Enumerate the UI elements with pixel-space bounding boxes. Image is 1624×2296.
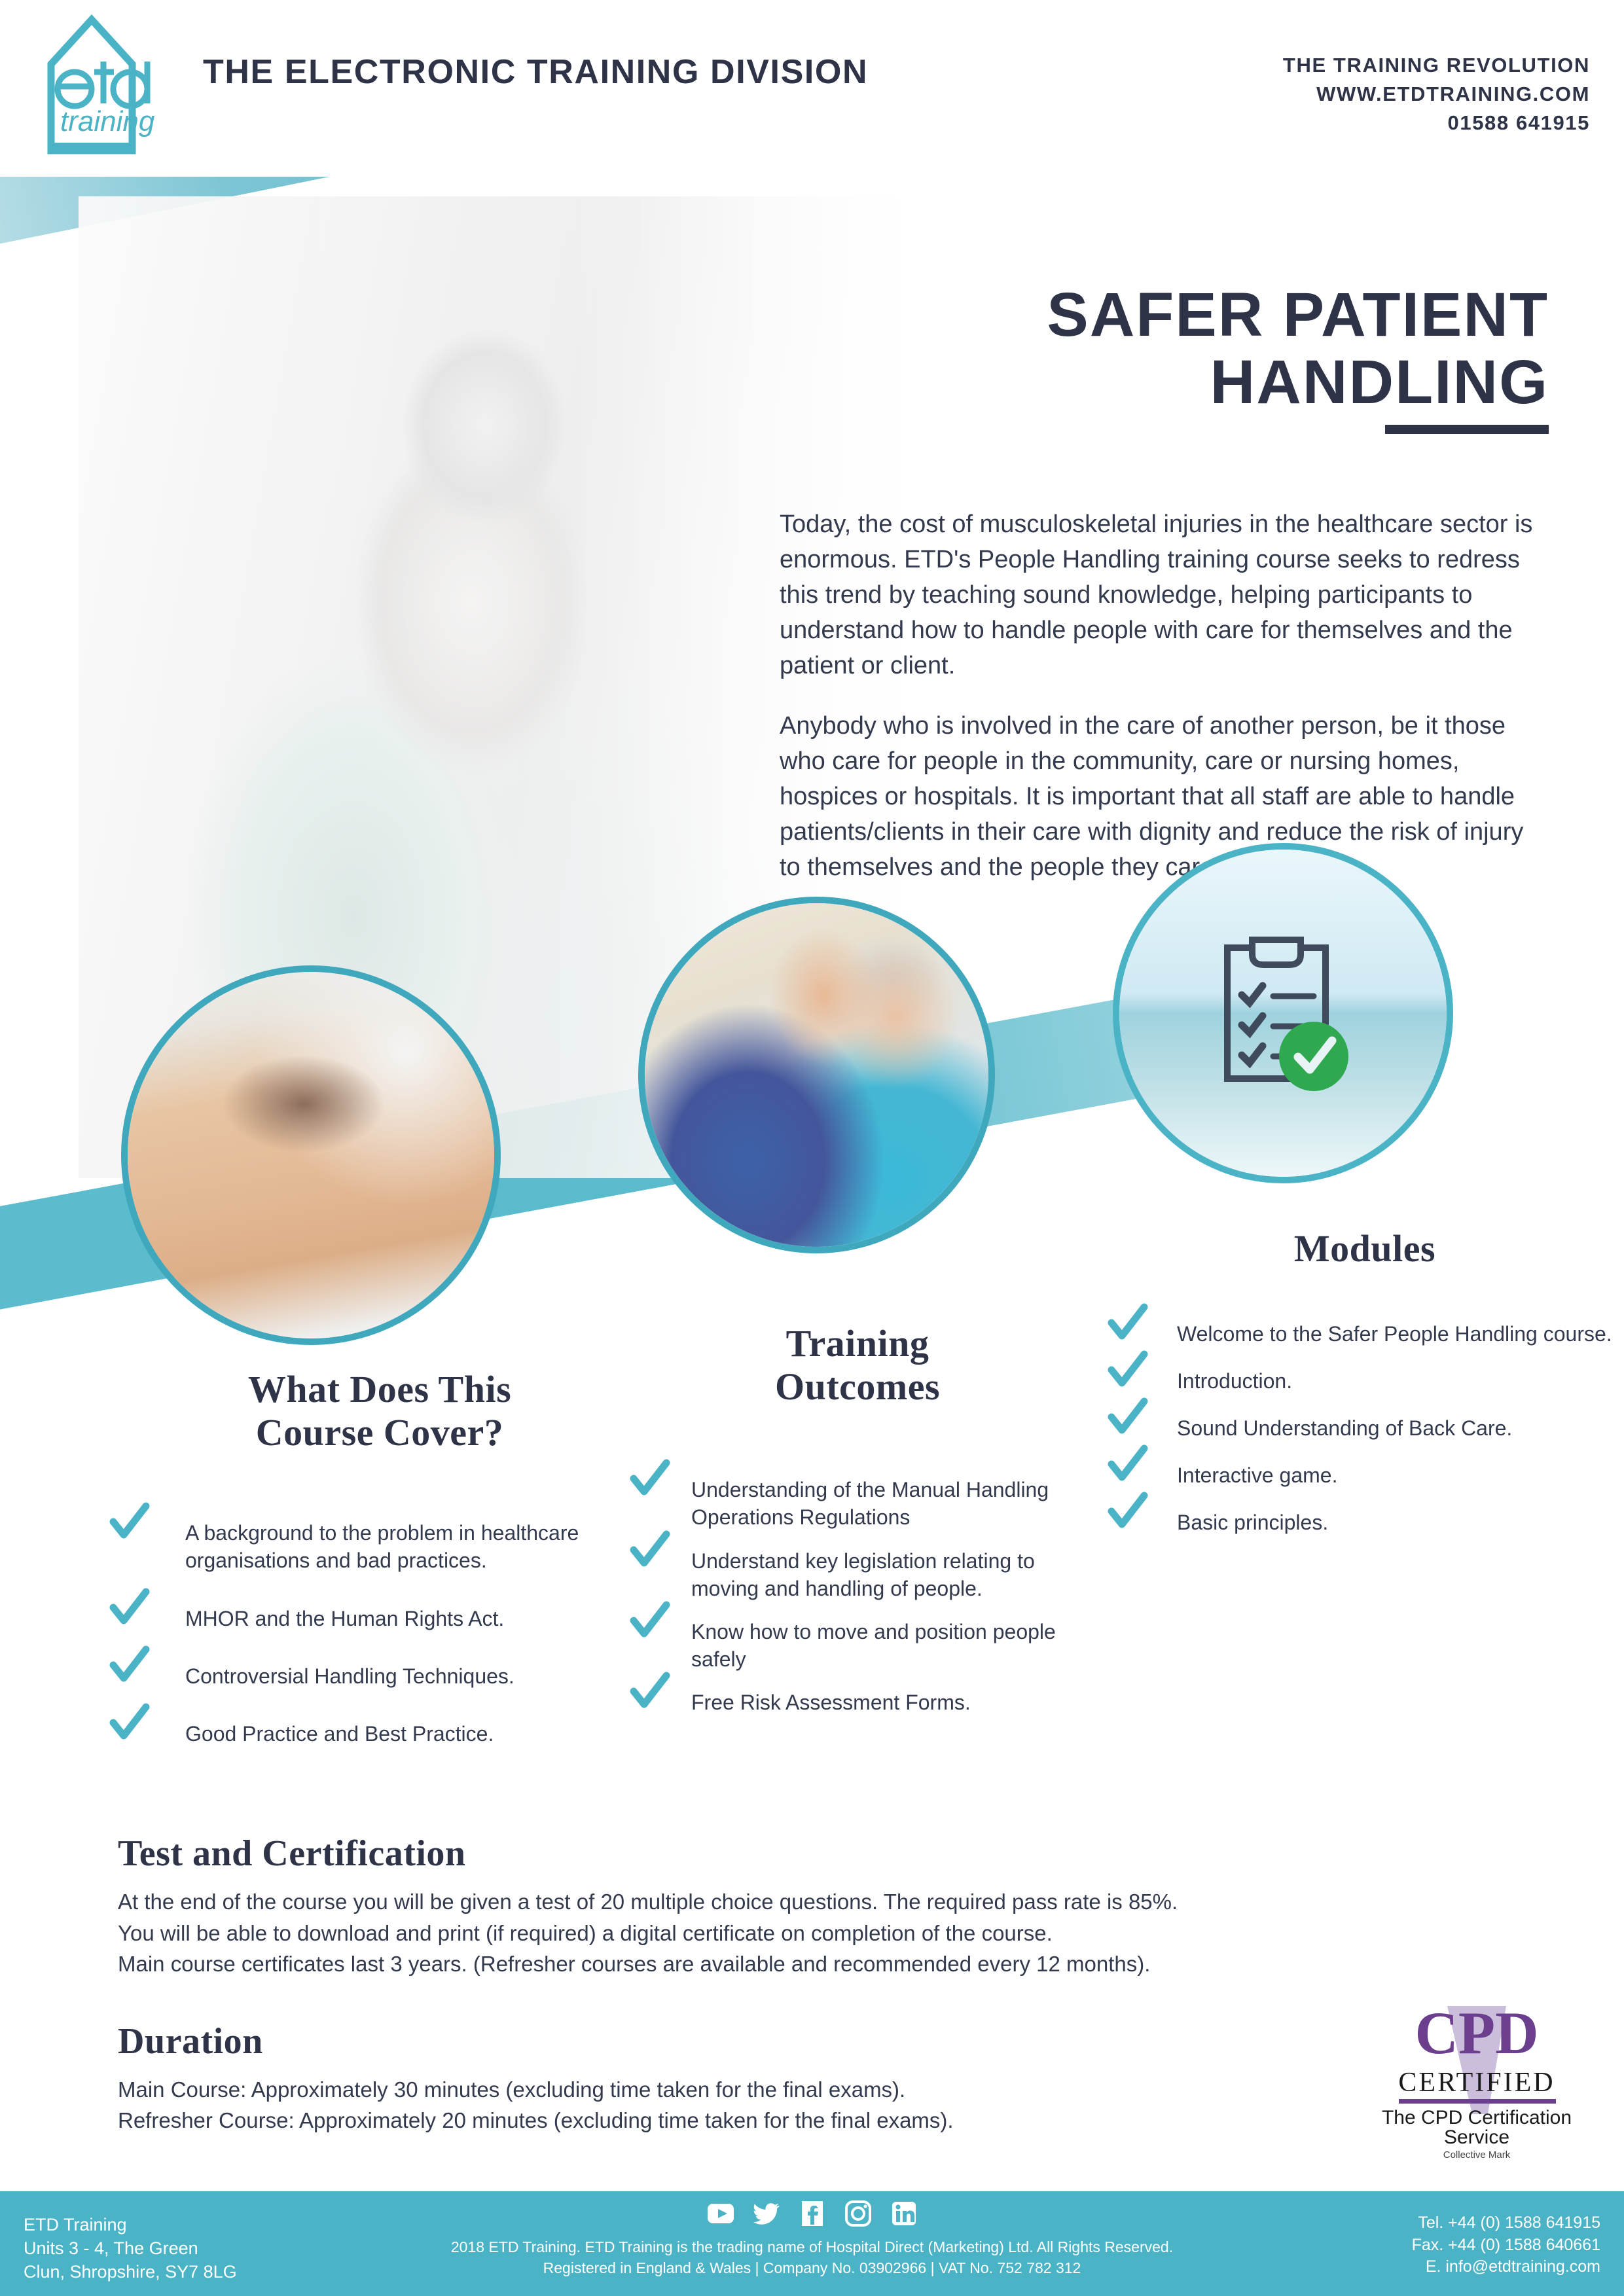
- duration-line-2: Refresher Course: Approximately 20 minut…: [118, 2105, 1492, 2136]
- list-item-label: Interactive game.: [1159, 1455, 1337, 1489]
- course-cover-heading-line-1: What Does This: [108, 1368, 651, 1411]
- list-item: Free Risk Assessment Forms.: [628, 1682, 1087, 1716]
- title-underline-rule: [1385, 425, 1549, 434]
- page-footer: ETD Training Units 3 - 4, The Green Clun…: [0, 2191, 1624, 2296]
- youtube-icon[interactable]: [706, 2199, 735, 2231]
- list-item-label: Controversial Handling Techniques.: [160, 1656, 514, 1690]
- section-training-outcomes: Training Outcomes Understanding of the M…: [628, 1322, 1087, 1726]
- title-line-2: HANDLING: [829, 349, 1549, 416]
- section-course-cover: What Does This Course Cover? A backgroun…: [108, 1368, 651, 1771]
- list-item-label: Introduction.: [1159, 1361, 1292, 1395]
- circle-image-nurse-patient: [638, 897, 995, 1253]
- course-cover-heading-line-2: Course Cover?: [108, 1411, 651, 1454]
- training-outcomes-list: Understanding of the Manual Handling Ope…: [628, 1469, 1087, 1717]
- list-item: A background to the problem in healthcar…: [108, 1513, 651, 1574]
- hero-paragraph-1: Today, the cost of musculoskeletal injur…: [780, 507, 1549, 684]
- section-modules: Modules Welcome to the Safer People Hand…: [1106, 1227, 1623, 1550]
- brand-title: THE ELECTRONIC TRAINING DIVISION: [203, 52, 868, 92]
- modules-icon-background: [1119, 850, 1447, 1177]
- list-item: Understand key legislation relating to m…: [628, 1541, 1087, 1602]
- checkmark-icon: [628, 1529, 670, 1571]
- section-lower-details: Test and Certification At the end of the…: [118, 1833, 1492, 2136]
- svg-text:The CPD Certification: The CPD Certification: [1382, 2107, 1572, 2128]
- list-item: Welcome to the Safer People Handling cou…: [1106, 1314, 1623, 1348]
- list-item: Good Practice and Best Practice.: [108, 1713, 651, 1748]
- etd-logo-icon: training: [31, 12, 189, 166]
- list-item: Introduction.: [1106, 1361, 1623, 1395]
- flyer-page: SAFER PATIENT HANDLING Today, the cost o…: [0, 0, 1624, 2296]
- duration-line-1: Main Course: Approximately 30 minutes (e…: [118, 2074, 1492, 2106]
- page-title: SAFER PATIENT HANDLING: [829, 281, 1549, 434]
- svg-text:training: training: [60, 105, 155, 137]
- circle-icon-modules-checklist: [1113, 843, 1453, 1183]
- list-item: MHOR and the Human Rights Act.: [108, 1598, 651, 1632]
- footer-telephone[interactable]: Tel. +44 (0) 1588 641915: [1412, 2212, 1600, 2234]
- footer-copyright-line-2: Registered in England & Wales | Company …: [321, 2257, 1303, 2278]
- list-item: Interactive game.: [1106, 1455, 1623, 1489]
- duration-heading: Duration: [118, 2020, 1492, 2062]
- footer-email[interactable]: E. info@etdtraining.com: [1412, 2256, 1600, 2278]
- test-certification-block: Test and Certification At the end of the…: [118, 1833, 1492, 1980]
- checkmark-icon: [628, 1670, 670, 1712]
- list-item-label: MHOR and the Human Rights Act.: [160, 1598, 504, 1632]
- svg-text:Collective Mark: Collective Mark: [1443, 2149, 1511, 2161]
- cpd-certified-logo: CPD CERTIFIED The CPD Certification Serv…: [1369, 2000, 1585, 2166]
- footer-address: ETD Training Units 3 - 4, The Green Clun…: [24, 2214, 237, 2284]
- footer-address-line-1: ETD Training: [24, 2214, 237, 2237]
- checkmark-icon: [628, 1600, 670, 1641]
- checkmark-icon: [1106, 1349, 1148, 1391]
- footer-copyright-line-1: 2018 ETD Training. ETD Training is the t…: [321, 2236, 1303, 2257]
- checkmark-icon: [108, 1702, 150, 1744]
- training-outcomes-heading: Training Outcomes: [628, 1322, 1087, 1408]
- nurse-patient-photo: [645, 903, 988, 1247]
- list-item-label: A background to the problem in healthcar…: [160, 1513, 651, 1574]
- checkmark-icon: [108, 1644, 150, 1686]
- header-website[interactable]: WWW.ETDTRAINING.COM: [1283, 80, 1590, 109]
- course-cover-list: A background to the problem in healthcar…: [108, 1513, 651, 1748]
- footer-contact: Tel. +44 (0) 1588 641915 Fax. +44 (0) 15…: [1412, 2212, 1600, 2278]
- checkmark-icon: [108, 1587, 150, 1628]
- test-certification-line-1: At the end of the course you will be giv…: [118, 1886, 1492, 1918]
- page-header: training THE ELECTRONIC TRAINING DIVISIO…: [0, 0, 1624, 177]
- facebook-icon[interactable]: [798, 2199, 827, 2231]
- test-certification-heading: Test and Certification: [118, 1833, 1492, 1874]
- svg-text:CERTIFIED: CERTIFIED: [1398, 2068, 1555, 2098]
- instagram-icon[interactable]: [844, 2199, 873, 2231]
- checkmark-icon: [1106, 1396, 1148, 1438]
- footer-top-divider: [0, 2186, 1624, 2191]
- modules-list: Welcome to the Safer People Handling cou…: [1106, 1314, 1623, 1537]
- list-item: Sound Understanding of Back Care.: [1106, 1408, 1623, 1442]
- modules-heading: Modules: [1106, 1227, 1623, 1270]
- list-item-label: Sound Understanding of Back Care.: [1159, 1408, 1512, 1442]
- cpd-letters: CPD: [1415, 2000, 1538, 2066]
- svg-text:Service: Service: [1444, 2126, 1509, 2148]
- list-item-label: Welcome to the Safer People Handling cou…: [1159, 1314, 1612, 1348]
- clipboard-checklist-icon: [1201, 928, 1365, 1098]
- course-cover-heading: What Does This Course Cover?: [108, 1368, 651, 1454]
- footer-center-block: 2018 ETD Training. ETD Training is the t…: [321, 2199, 1303, 2278]
- test-certification-line-2: You will be able to download and print (…: [118, 1918, 1492, 1949]
- list-item: Understanding of the Manual Handling Ope…: [628, 1469, 1087, 1531]
- checkmark-icon: [1106, 1302, 1148, 1344]
- checkmark-icon: [1106, 1490, 1148, 1532]
- list-item-label: Free Risk Assessment Forms.: [681, 1682, 971, 1716]
- back-treatment-photo: [128, 972, 494, 1338]
- circle-image-back-treatment: [121, 965, 501, 1345]
- list-item: Know how to move and position people saf…: [628, 1611, 1087, 1673]
- list-item-label: Good Practice and Best Practice.: [160, 1713, 494, 1748]
- cpd-logo-icon: CPD CERTIFIED The CPD Certification Serv…: [1369, 2000, 1585, 2163]
- test-certification-line-3: Main course certificates last 3 years. (…: [118, 1948, 1492, 1980]
- list-item-label: Know how to move and position people saf…: [681, 1611, 1087, 1673]
- list-item: Basic principles.: [1106, 1502, 1623, 1536]
- header-phone[interactable]: 01588 641915: [1283, 109, 1590, 137]
- list-item: Controversial Handling Techniques.: [108, 1656, 651, 1690]
- twitter-icon[interactable]: [752, 2199, 781, 2231]
- linkedin-icon[interactable]: [890, 2199, 918, 2231]
- footer-address-line-3: Clun, Shropshire, SY7 8LG: [24, 2261, 237, 2284]
- checkmark-icon: [1106, 1443, 1148, 1485]
- duration-block: Duration Main Course: Approximately 30 m…: [118, 2020, 1492, 2136]
- footer-address-line-2: Units 3 - 4, The Green: [24, 2237, 237, 2261]
- training-outcomes-heading-line-1: Training: [628, 1322, 1087, 1365]
- checkmark-icon: [108, 1501, 150, 1543]
- footer-fax: Fax. +44 (0) 1588 640661: [1412, 2234, 1600, 2257]
- training-outcomes-heading-line-2: Outcomes: [628, 1365, 1087, 1408]
- header-tagline: THE TRAINING REVOLUTION: [1283, 51, 1590, 80]
- header-contact-block: THE TRAINING REVOLUTION WWW.ETDTRAINING.…: [1283, 51, 1590, 137]
- list-item-label: Understanding of the Manual Handling Ope…: [681, 1469, 1087, 1531]
- social-links: [321, 2199, 1303, 2231]
- etd-training-logo: training: [31, 12, 189, 166]
- checkmark-icon: [628, 1458, 670, 1499]
- list-item-label: Basic principles.: [1159, 1502, 1328, 1536]
- title-line-1: SAFER PATIENT: [829, 281, 1549, 349]
- list-item-label: Understand key legislation relating to m…: [681, 1541, 1087, 1602]
